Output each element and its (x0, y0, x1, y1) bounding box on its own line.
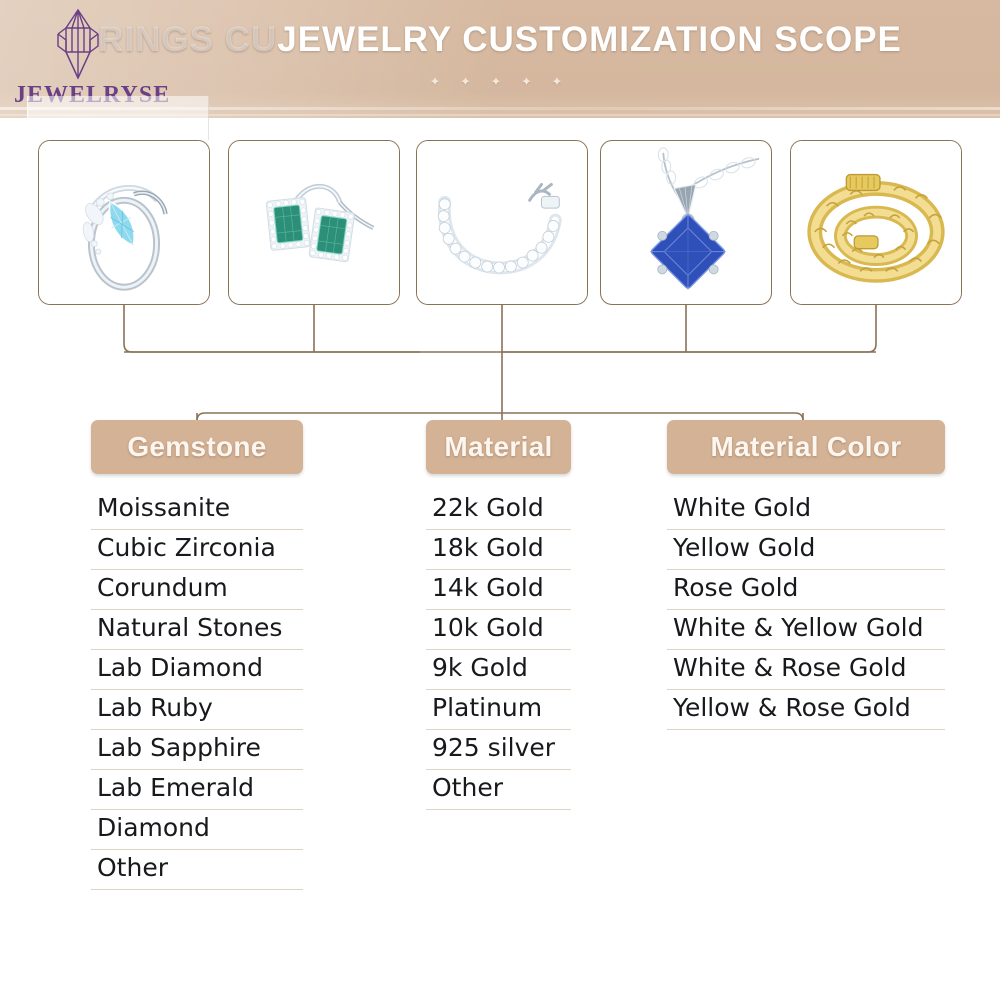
column-gemstone: Gemstone Moissanite Cubic Zirconia Corun… (91, 420, 303, 890)
gold-cuban-chain-icon (791, 141, 961, 304)
list-item[interactable]: Lab Emerald (91, 770, 303, 810)
list-item[interactable]: Natural Stones (91, 610, 303, 650)
bracelet-card[interactable] (416, 140, 588, 305)
product-card-row (0, 140, 1000, 305)
page-title: RINGS CUJEWELRY CUSTOMIZATION SCOPE (0, 20, 1000, 60)
infographic-root: RINGS CUJEWELRY CUSTOMIZATION SCOPE ✦ ✦ … (0, 0, 1000, 1000)
list-item[interactable]: Cubic Zirconia (91, 530, 303, 570)
list-item[interactable]: 22k Gold (426, 490, 571, 530)
page-title-main: JEWELRY CUSTOMIZATION SCOPE (277, 20, 902, 59)
list-item[interactable]: Other (426, 770, 571, 810)
list-item[interactable]: Yellow Gold (667, 530, 945, 570)
list-item[interactable]: Platinum (426, 690, 571, 730)
list-item[interactable]: Moissanite (91, 490, 303, 530)
gem-icon (56, 8, 100, 80)
necklace-card[interactable] (600, 140, 772, 305)
list-material: 22k Gold 18k Gold 14k Gold 10k Gold 9k G… (426, 490, 571, 810)
sapphire-pendant-necklace-icon (601, 141, 771, 304)
list-item[interactable]: Yellow & Rose Gold (667, 690, 945, 730)
list-item[interactable]: Lab Diamond (91, 650, 303, 690)
ring-with-aquamarine-gem-icon (39, 141, 209, 304)
list-item[interactable]: Other (91, 850, 303, 890)
ring-card[interactable] (38, 140, 210, 305)
column-header-material[interactable]: Material (426, 420, 571, 474)
list-item[interactable]: Corundum (91, 570, 303, 610)
list-item[interactable]: 18k Gold (426, 530, 571, 570)
list-item[interactable]: Lab Ruby (91, 690, 303, 730)
column-material-color: Material Color White Gold Yellow Gold Ro… (667, 420, 945, 730)
list-item[interactable]: White & Rose Gold (667, 650, 945, 690)
emerald-halo-earrings-icon (229, 141, 399, 304)
list-item[interactable]: Rose Gold (667, 570, 945, 610)
list-item[interactable]: 14k Gold (426, 570, 571, 610)
translucent-overlay-panel (27, 96, 209, 140)
list-material-color: White Gold Yellow Gold Rose Gold White &… (667, 490, 945, 730)
brand-logo[interactable]: JEWELRYSE (14, 8, 136, 108)
list-item[interactable]: White & Yellow Gold (667, 610, 945, 650)
column-header-gemstone[interactable]: Gemstone (91, 420, 303, 474)
tennis-bracelet-icon (417, 141, 587, 304)
chain-card[interactable] (790, 140, 962, 305)
list-item[interactable]: White Gold (667, 490, 945, 530)
list-item[interactable]: 925 silver (426, 730, 571, 770)
list-item[interactable]: 10k Gold (426, 610, 571, 650)
list-item[interactable]: Lab Sapphire (91, 730, 303, 770)
earrings-card[interactable] (228, 140, 400, 305)
list-item[interactable]: Diamond (91, 810, 303, 850)
column-material: Material 22k Gold 18k Gold 14k Gold 10k … (426, 420, 571, 810)
list-item[interactable]: 9k Gold (426, 650, 571, 690)
list-gemstone: Moissanite Cubic Zirconia Corundum Natur… (91, 490, 303, 890)
column-header-material-color[interactable]: Material Color (667, 420, 945, 474)
